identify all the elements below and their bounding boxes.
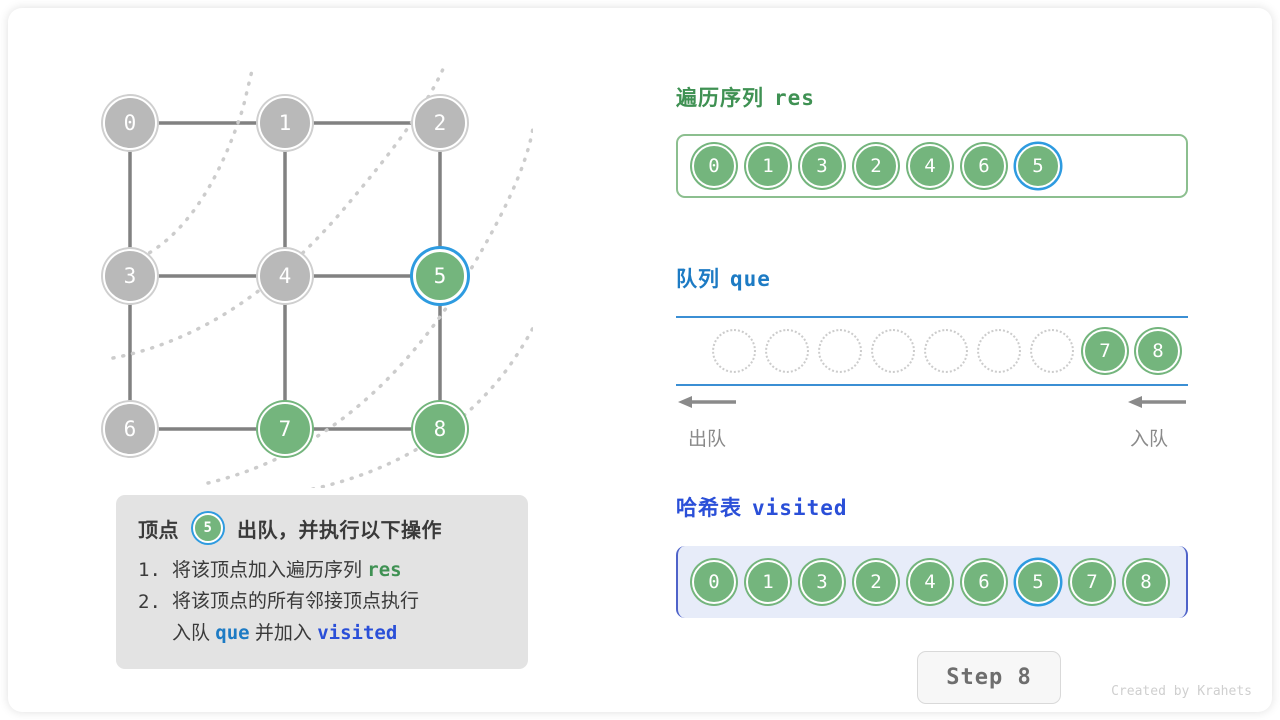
visited-title-code: visited	[752, 496, 848, 520]
visited-panel-title: 哈希表visited	[676, 492, 848, 522]
que-title-cn: 队列	[676, 268, 720, 291]
graph-diagram: 012345678	[103, 68, 533, 488]
res-title-cn: 遍历序列	[676, 87, 764, 110]
visited-cell-6: 5	[1016, 560, 1060, 604]
res-title-code: res	[774, 86, 815, 110]
res-cell-4: 4	[908, 144, 952, 188]
queue-box: 78	[676, 316, 1188, 386]
graph-node-6[interactable]: 6	[103, 402, 157, 456]
queue-arrows-row	[676, 394, 1188, 410]
description-vertex-badge: 5	[193, 513, 223, 543]
description-title-prefix: 顶点	[138, 514, 179, 543]
visited-cell-7: 7	[1070, 560, 1114, 604]
que-cell-2	[818, 329, 862, 373]
res-cell-2: 3	[800, 144, 844, 188]
enqueue-label: 入队	[1130, 424, 1168, 451]
description-step-2-continued: 入队 que 并加入 visited	[138, 618, 506, 650]
slide-canvas: 012345678 顶点 5 出队，并执行以下操作 1. 将该顶点加入遍历序列 …	[8, 8, 1272, 712]
graph-node-0[interactable]: 0	[103, 96, 157, 150]
res-cell-1: 1	[746, 144, 790, 188]
res-cell-0: 0	[692, 144, 736, 188]
que-panel-title: 队列que	[676, 263, 771, 293]
visited-hashset-box: 013246578	[676, 546, 1188, 618]
que-cell-4	[924, 329, 968, 373]
bfs-wavefront-curves	[113, 68, 533, 488]
visited-cell-4: 4	[908, 560, 952, 604]
que-cell-8: 8	[1136, 329, 1180, 373]
res-cell-5: 6	[962, 144, 1006, 188]
graph-node-7[interactable]: 7	[258, 402, 312, 456]
visited-cell-0: 0	[692, 560, 736, 604]
code-que: que	[215, 622, 249, 644]
visited-cell-1: 1	[746, 560, 790, 604]
description-step-2-line2: 入队 que 并加入 visited	[172, 618, 397, 650]
description-step-2-indent	[138, 618, 172, 650]
visited-title-cn: 哈希表	[676, 497, 742, 520]
visited-cell-5: 6	[962, 560, 1006, 604]
res-cell-3: 2	[854, 144, 898, 188]
res-cell-6: 5	[1016, 144, 1060, 188]
graph-node-8[interactable]: 8	[413, 402, 467, 456]
graph-node-2[interactable]: 2	[413, 96, 467, 150]
dequeue-label: 出队	[688, 424, 726, 451]
visited-cell-8: 8	[1124, 560, 1168, 604]
description-step-1-text: 将该顶点加入遍历序列 res	[172, 555, 402, 587]
que-cell-3	[871, 329, 915, 373]
graph-node-3[interactable]: 3	[103, 249, 157, 303]
que-cell-1	[765, 329, 809, 373]
description-step-1-number: 1.	[138, 555, 172, 587]
description-step-1: 1. 将该顶点加入遍历序列 res	[138, 555, 506, 587]
code-res: res	[367, 559, 401, 581]
graph-node-1[interactable]: 1	[258, 96, 312, 150]
enqueue-arrow-icon	[1126, 394, 1188, 410]
dequeue-arrow-icon	[676, 394, 738, 410]
que-title-code: que	[730, 267, 771, 291]
que-cell-5	[977, 329, 1021, 373]
credit-text: Created by Krahets	[1111, 684, 1252, 699]
que-cell-7: 7	[1083, 329, 1127, 373]
description-title-suffix: 出队，并执行以下操作	[237, 514, 442, 543]
graph-node-4[interactable]: 4	[258, 249, 312, 303]
description-step-2-text: 将该顶点的所有邻接顶点执行	[172, 587, 419, 618]
description-title: 顶点 5 出队，并执行以下操作	[138, 513, 506, 543]
description-step-2-number: 2.	[138, 587, 172, 618]
graph-edges-svg	[103, 68, 533, 488]
que-cell-0	[712, 329, 756, 373]
code-visited: visited	[317, 622, 397, 644]
res-sequence-box: 0132465	[676, 134, 1188, 198]
res-panel-title: 遍历序列res	[676, 82, 815, 112]
description-step-2: 2. 将该顶点的所有邻接顶点执行	[138, 587, 506, 618]
operation-description-box: 顶点 5 出队，并执行以下操作 1. 将该顶点加入遍历序列 res 2. 将该顶…	[116, 495, 528, 669]
que-cell-6	[1030, 329, 1074, 373]
step-badge: Step 8	[917, 651, 1061, 704]
visited-cell-2: 3	[800, 560, 844, 604]
graph-node-5[interactable]: 5	[413, 249, 467, 303]
visited-cell-3: 2	[854, 560, 898, 604]
